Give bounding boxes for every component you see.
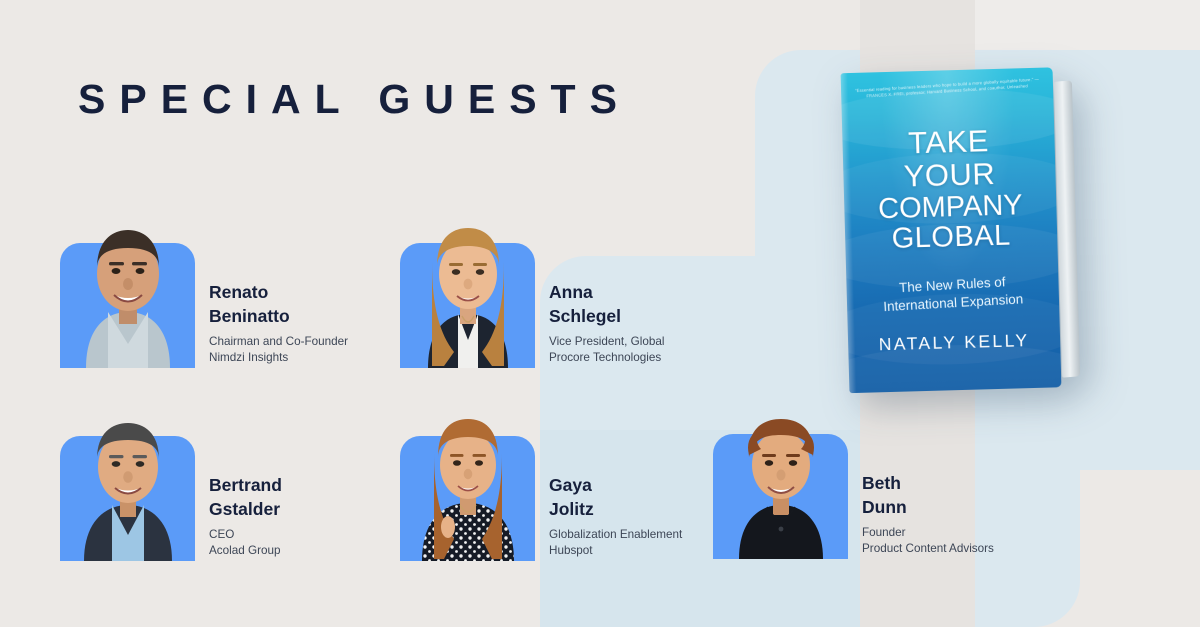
- speaker-info: Renato Beninatto Chairman and Co-Founder…: [195, 281, 348, 368]
- portrait-svg: [717, 407, 845, 559]
- avatar-tile: [60, 243, 195, 368]
- speaker-name-line1: Bertrand: [209, 474, 282, 498]
- page-title: SPECIAL GUESTS: [78, 76, 631, 123]
- avatar-gaya-jolitz: [400, 421, 535, 561]
- book-title: TAKE YOUR COMPANY GLOBAL: [842, 123, 1057, 256]
- speaker-org: Nimdzi Insights: [209, 350, 348, 366]
- portrait-illustration: [717, 407, 845, 559]
- speaker-card-gaya-jolitz[interactable]: Gaya Jolitz Globalization Enablement Hub…: [400, 421, 682, 561]
- portrait-svg: [64, 216, 192, 368]
- avatar-bertrand-gstalder: [60, 421, 195, 561]
- portrait-illustration: [64, 216, 192, 368]
- portrait-illustration: [404, 216, 532, 368]
- speaker-card-anna-schlegel[interactable]: Anna Schlegel Vice President, Global Pro…: [400, 228, 664, 368]
- portrait-illustration: [64, 409, 192, 561]
- speaker-role: CEO: [209, 527, 282, 543]
- speaker-org: Acolad Group: [209, 543, 282, 559]
- book-title-line4: GLOBAL: [845, 220, 1058, 257]
- speaker-role: Globalization Enablement: [549, 527, 682, 543]
- speaker-name-line2: Jolitz: [549, 498, 682, 522]
- avatar-anna-schlegel: [400, 228, 535, 368]
- speaker-name-line2: Gstalder: [209, 498, 282, 522]
- speaker-role: Vice President, Global: [549, 334, 664, 350]
- speaker-org: Procore Technologies: [549, 350, 664, 366]
- speaker-card-beth-dunn[interactable]: Beth Dunn Founder Product Content Adviso…: [713, 419, 994, 559]
- speaker-info: Bertrand Gstalder CEO Acolad Group: [195, 474, 282, 561]
- speaker-name-line1: Renato: [209, 281, 348, 305]
- speaker-name-line2: Beninatto: [209, 305, 348, 329]
- avatar-tile: [60, 436, 195, 561]
- portrait-svg: [404, 409, 532, 561]
- speaker-name-line1: Anna: [549, 281, 664, 305]
- avatar-tile: [400, 436, 535, 561]
- portrait-illustration: [404, 409, 532, 561]
- speaker-name-line1: Beth: [862, 472, 994, 496]
- speaker-role: Founder: [862, 525, 994, 541]
- portrait-svg: [64, 409, 192, 561]
- book-cover-take-your-company-global: "Essential reading for business leaders …: [841, 67, 1080, 393]
- avatar-beth-dunn: [713, 419, 848, 559]
- avatar-tile: [400, 243, 535, 368]
- speaker-info: Beth Dunn Founder Product Content Adviso…: [848, 472, 994, 559]
- speaker-name-line2: Schlegel: [549, 305, 664, 329]
- speaker-name-line1: Gaya: [549, 474, 682, 498]
- speaker-info: Gaya Jolitz Globalization Enablement Hub…: [535, 474, 682, 561]
- avatar-tile: [713, 434, 848, 559]
- slide-canvas: SPECIAL GUESTS: [0, 0, 1200, 627]
- speaker-info: Anna Schlegel Vice President, Global Pro…: [535, 281, 664, 368]
- speaker-role: Chairman and Co-Founder: [209, 334, 348, 350]
- book-front-cover: "Essential reading for business leaders …: [841, 67, 1062, 393]
- speaker-org: Product Content Advisors: [862, 541, 994, 557]
- speaker-name-line2: Dunn: [862, 496, 994, 520]
- avatar-renato-beninatto: [60, 228, 195, 368]
- speaker-org: Hubspot: [549, 543, 682, 559]
- speaker-card-renato-beninatto[interactable]: Renato Beninatto Chairman and Co-Founder…: [60, 228, 348, 368]
- portrait-svg: [404, 216, 532, 368]
- speaker-card-bertrand-gstalder[interactable]: Bertrand Gstalder CEO Acolad Group: [60, 421, 282, 561]
